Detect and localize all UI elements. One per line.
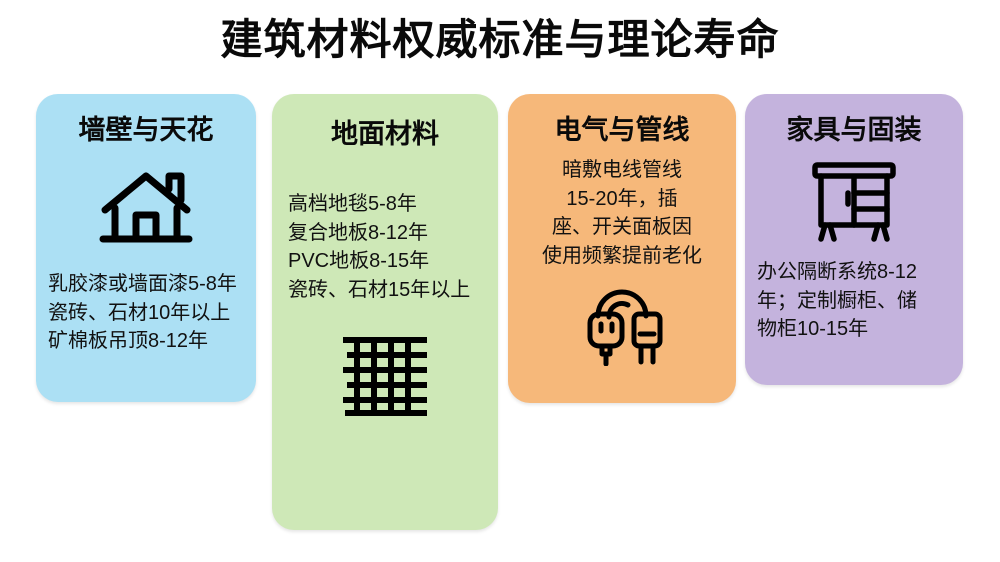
card-walls-ceiling[interactable]: 墙壁与天花 乳胶漆或墙面漆5-8年 瓷砖、石材10年以上 矿棉板吊顶8-12年	[36, 94, 256, 402]
power-plug-icon	[508, 276, 736, 368]
card-body-walls-ceiling: 乳胶漆或墙面漆5-8年 瓷砖、石材10年以上 矿棉板吊顶8-12年	[36, 270, 256, 355]
card-furniture-fixtures[interactable]: 家具与固装 办公隔断系统8-12 年；定制橱柜、储 物柜10-15年	[745, 94, 963, 385]
card-title-furniture-fixtures: 家具与固装	[745, 114, 963, 146]
card-electrical-conduit[interactable]: 电气与管线 暗敷电线管线 15-20年，插 座、开关面板因 使用频繁提前老化	[508, 94, 736, 403]
infographic-canvas: 建筑材料权威标准与理论寿命 墙壁与天花 乳胶漆或墙面漆5-8年 瓷砖、石材10年…	[0, 0, 1000, 562]
card-body-electrical-conduit: 暗敷电线管线 15-20年，插 座、开关面板因 使用频繁提前老化	[508, 156, 736, 270]
card-title-walls-ceiling: 墙壁与天花	[36, 114, 256, 146]
card-body-floor-materials: 高档地毯5-8年 复合地板8-12年 PVC地板8-15年 瓷砖、石材15年以上	[272, 190, 498, 304]
house-icon	[36, 164, 256, 256]
card-body-furniture-fixtures: 办公隔断系统8-12 年；定制橱柜、储 物柜10-15年	[745, 258, 963, 343]
card-title-electrical-conduit: 电气与管线	[508, 114, 736, 146]
cabinet-icon	[745, 156, 963, 248]
page-title: 建筑材料权威标准与理论寿命	[0, 16, 1000, 64]
card-title-floor-materials: 地面材料	[272, 118, 498, 150]
tile-grid-icon	[272, 328, 498, 424]
card-floor-materials[interactable]: 地面材料 高档地毯5-8年 复合地板8-12年 PVC地板8-15年 瓷砖、石材…	[272, 94, 498, 530]
